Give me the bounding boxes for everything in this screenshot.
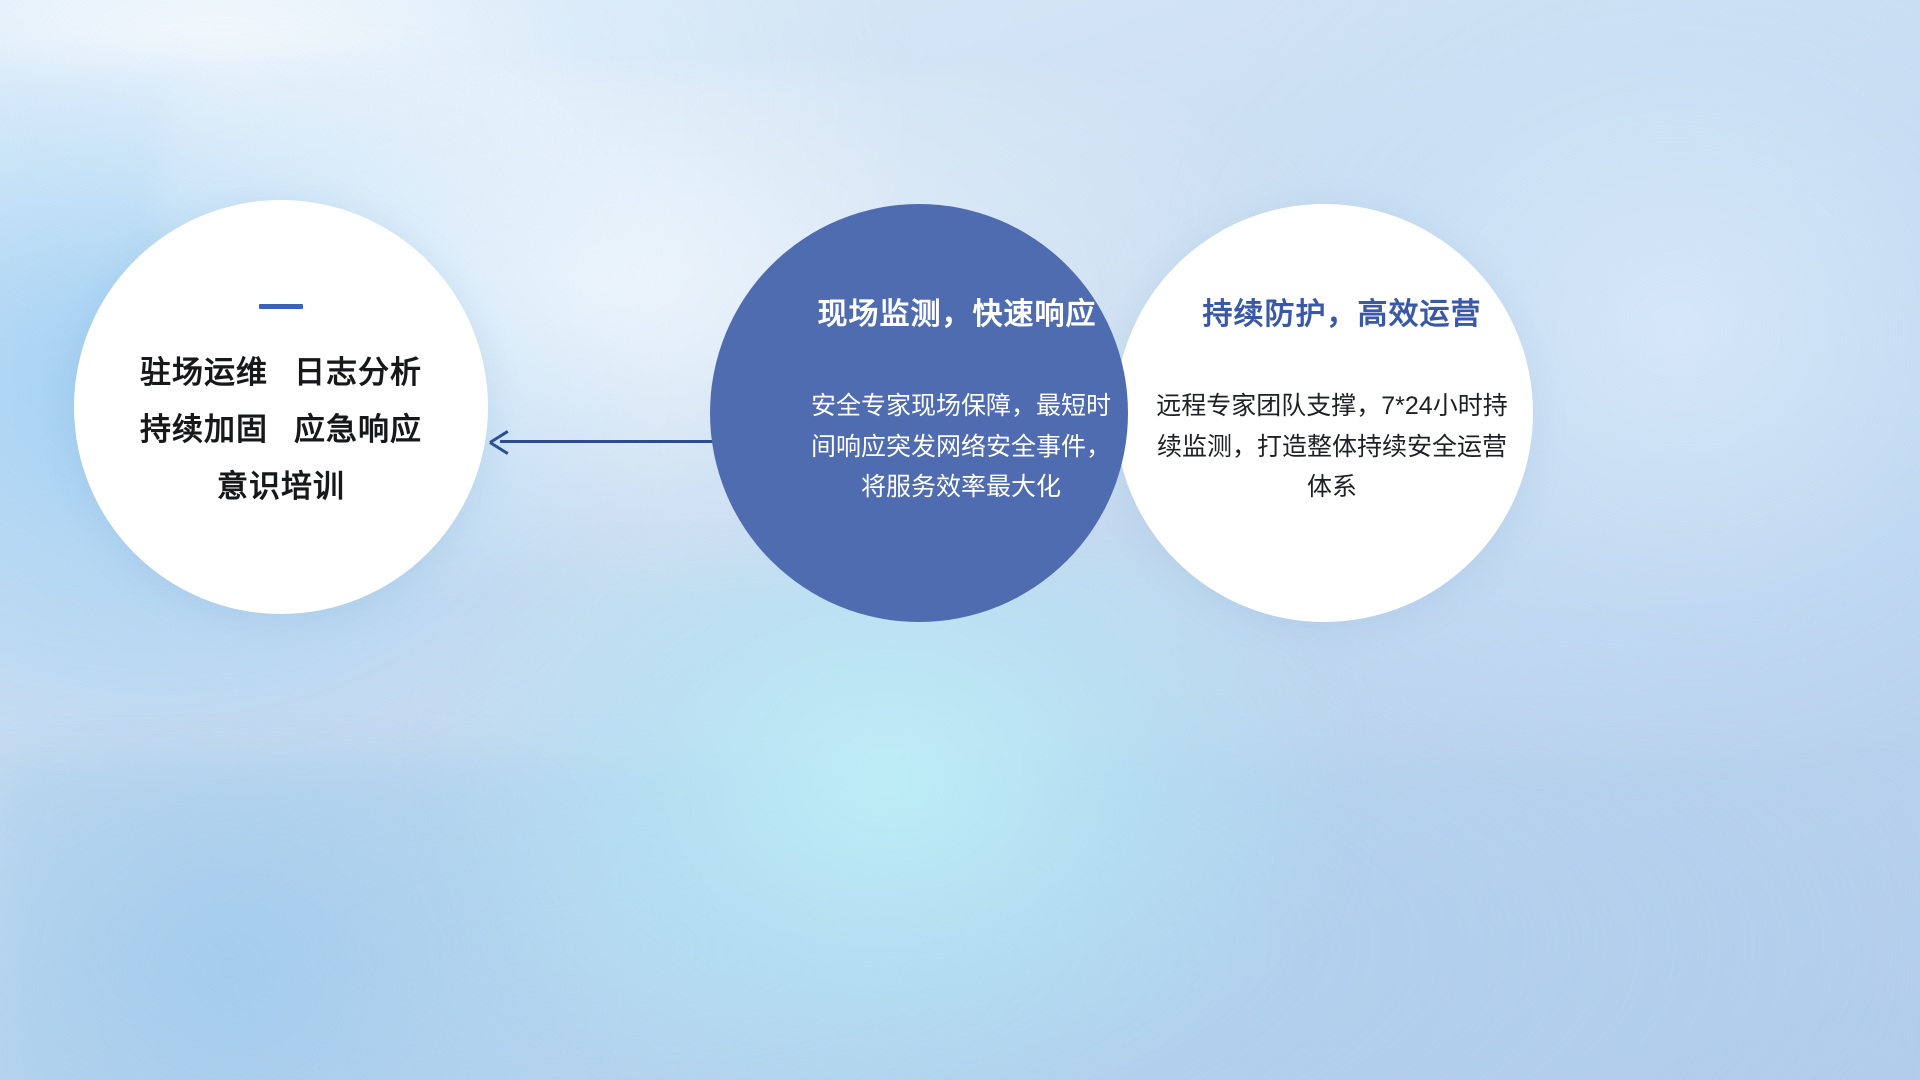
capability-row-1: 驻场运维日志分析	[140, 357, 422, 388]
slide-canvas: 驻场运维日志分析 持续加固应急响应 意识培训 持续防护，高效运营 远程专家团队支…	[0, 0, 1920, 1080]
background-glow-cyan	[440, 560, 1340, 1080]
capability-item-chixujiagu: 持续加固	[140, 412, 268, 447]
capability-list-circle[interactable]: 驻场运维日志分析 持续加固应急响应 意识培训	[74, 200, 488, 614]
capability-item-zhuchangyunwei: 驻场运维	[140, 355, 268, 390]
continuous-protection-body: 远程专家团队支撑，7*24小时持续监测，打造整体持续安全运营体系	[1156, 386, 1508, 508]
accent-dash-divider	[259, 304, 303, 309]
onsite-monitoring-body: 安全专家现场保障，最短时间响应突发网络安全事件，将服务效率最大化	[811, 386, 1111, 508]
onsite-monitoring-title: 现场监测，快速响应	[818, 300, 1097, 330]
capability-list: 驻场运维日志分析 持续加固应急响应 意识培训	[140, 357, 422, 502]
continuous-protection-title: 持续防护，高效运营	[1203, 300, 1482, 330]
capability-row-2: 持续加固应急响应	[140, 414, 422, 445]
capability-item-yingjixiangying: 应急响应	[294, 412, 422, 447]
continuous-protection-circle[interactable]: 持续防护，高效运营 远程专家团队支撑，7*24小时持续监测，打造整体持续安全运营…	[1115, 204, 1533, 622]
capability-row-3: 意识培训	[217, 471, 345, 502]
capability-item-yishipeixun: 意识培训	[217, 469, 345, 504]
capability-item-rizhifenxi: 日志分析	[294, 355, 422, 390]
onsite-monitoring-circle[interactable]: 现场监测，快速响应 安全专家现场保障，最短时间响应突发网络安全事件，将服务效率最…	[710, 204, 1128, 622]
